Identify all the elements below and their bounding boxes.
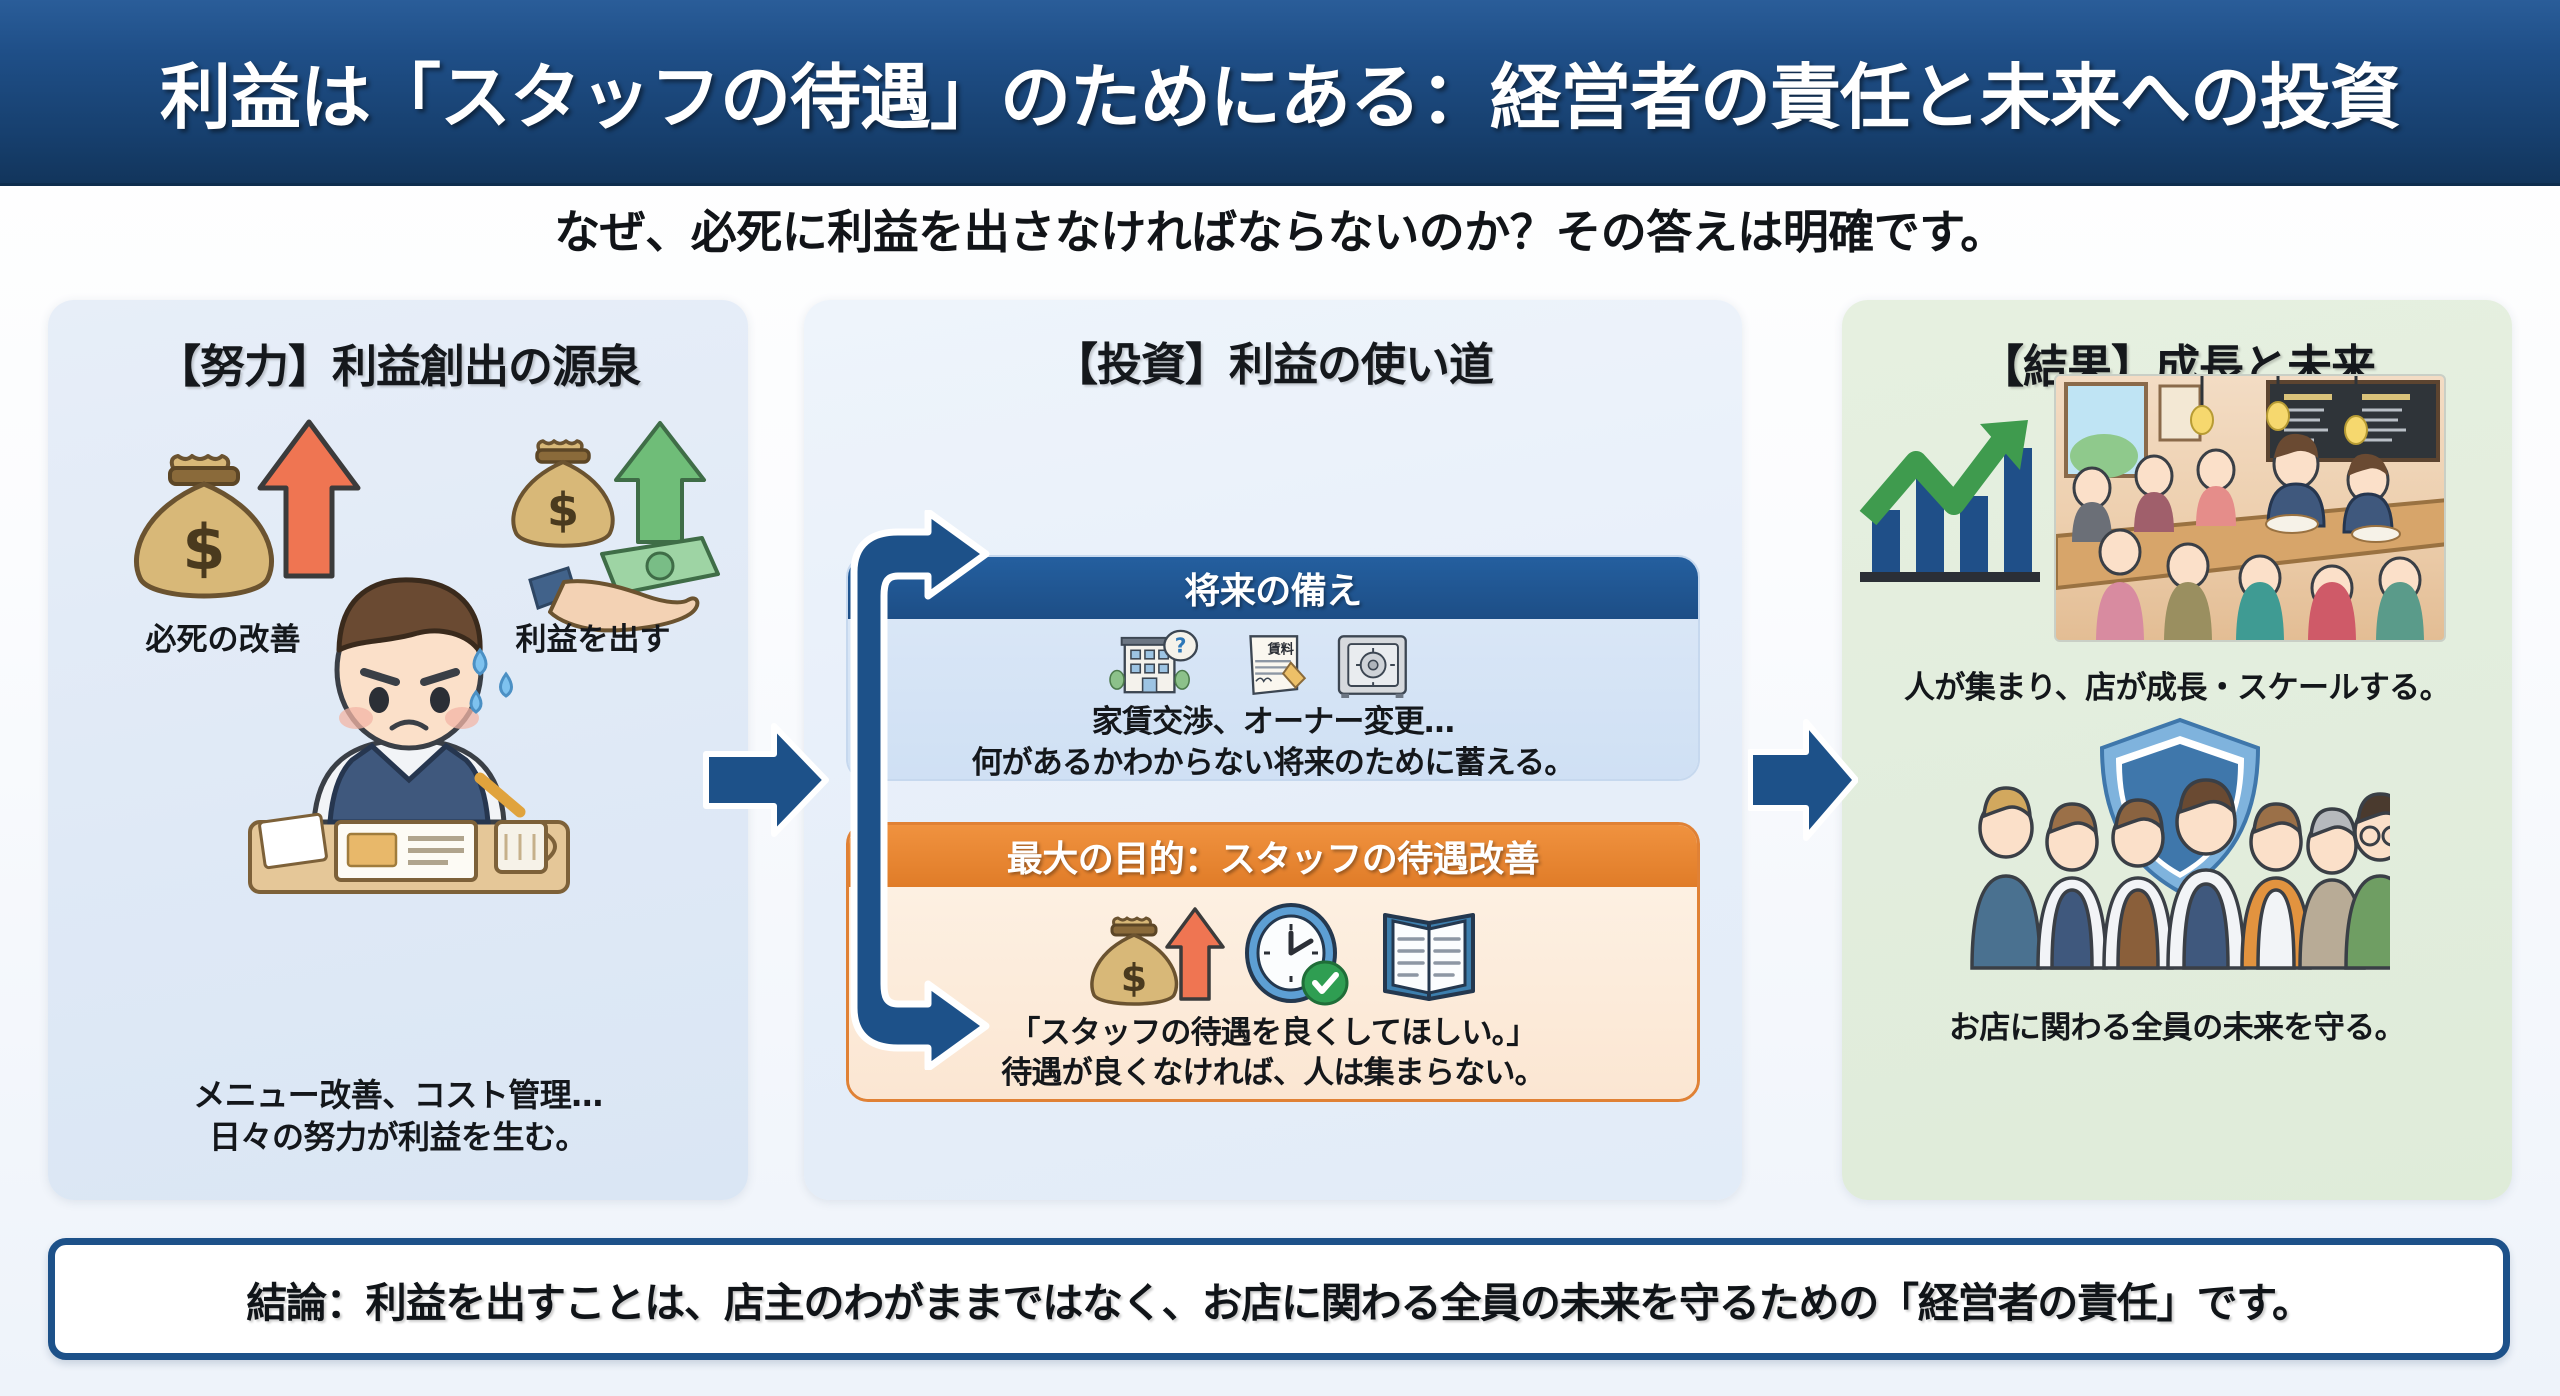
- team-people-illustration: [1970, 710, 2390, 970]
- effort-right-label: 利益を出す: [448, 614, 738, 659]
- future-icons-group: ? 賃料: [1058, 627, 1488, 698]
- panel-invest-title: 【投資】利益の使い道: [804, 328, 1742, 393]
- conclusion-box: 結論：利益を出すことは、店主のわがままではなく、お店に関わる全員の未来を守るため…: [48, 1238, 2510, 1360]
- panels-row: 【努力】利益創出の源泉 $ 必死の改善 $: [0, 300, 2560, 1200]
- svg-text:?: ?: [1175, 634, 1187, 658]
- safe-vault-icon: [1339, 636, 1406, 698]
- growth-bar-chart-icon: [1854, 400, 2044, 600]
- conclusion-text: 結論：利益を出すことは、店主のわがままではなく、お店に関わる全員の未来を守るため…: [246, 1269, 2312, 1329]
- card-future-preparation: 将来の備え: [846, 555, 1700, 781]
- busy-restaurant-illustration: [2054, 374, 2446, 642]
- panel-invest: 【投資】利益の使い道 将来の備え: [804, 300, 1742, 1200]
- money-bag-icon: $: [106, 426, 326, 616]
- result-caption-bottom: お店に関わる全員の未来を守る。: [1842, 1002, 2512, 1047]
- card-future-text-line1: 家賃交渉、オーナー変更…: [971, 702, 1574, 742]
- clock-check-icon: [1247, 905, 1347, 1004]
- result-caption-top: 人が集まり、店が成長・スケールする。: [1842, 662, 2512, 707]
- card-staff-text: 「スタッフの待遇を良くしてほしい。」 待遇が良くなければ、人は集まらない。: [1001, 1013, 1545, 1094]
- svg-text:$: $: [547, 483, 579, 537]
- money-bag-up-arrow-icon: $: [1092, 909, 1223, 1004]
- worried-chef-illustration: [244, 522, 574, 902]
- card-staff-header: 最大の目的：スタッフの待遇改善: [849, 825, 1697, 887]
- card-future-header: 将来の備え: [848, 557, 1698, 619]
- page-subtitle: なぜ、必死に利益を出さなければならないのか？その答えは明確です。: [0, 196, 2560, 262]
- green-up-arrow-icon: [610, 418, 710, 548]
- effort-caption-line1: メニュー改善、コスト管理…: [48, 1074, 748, 1116]
- page-header: 利益は「スタッフの待遇」のためにある：経営者の責任と未来への投資: [0, 0, 2560, 186]
- card-staff-text-line1: 「スタッフの待遇を良くしてほしい。」: [1001, 1013, 1545, 1053]
- open-book-icon: [1385, 915, 1473, 999]
- card-future-text-line2: 何があるかわからない将来のために蓄える。: [971, 743, 1574, 781]
- effort-left-label: 必死の改善: [78, 614, 368, 659]
- svg-text:$: $: [1121, 956, 1147, 1000]
- card-future-text: 家賃交渉、オーナー変更… 何があるかわからない将来のために蓄える。: [971, 702, 1574, 781]
- panel-result: 【結果】成長と未来: [1842, 300, 2512, 1200]
- svg-text:$: $: [182, 511, 225, 584]
- panel-effort: 【努力】利益創出の源泉 $ 必死の改善 $: [48, 300, 748, 1200]
- effort-icon-group: $ 必死の改善 $: [48, 410, 748, 740]
- card-staff-treatment: 最大の目的：スタッフの待遇改善 $: [846, 822, 1700, 1102]
- money-bag-icon: $: [498, 428, 628, 558]
- page-title: 利益は「スタッフの待遇」のためにある：経営者の責任と未来への投資: [160, 41, 2400, 143]
- card-staff-text-line2: 待遇が良くなければ、人は集まらない。: [1001, 1053, 1545, 1093]
- effort-caption: メニュー改善、コスト管理… 日々の努力が利益を生む。: [48, 1074, 748, 1158]
- effort-caption-line2: 日々の努力が利益を生む。: [48, 1116, 748, 1158]
- red-up-arrow-icon: [254, 416, 364, 586]
- rent-contract-icon: 賃料: [1250, 636, 1304, 693]
- shield-icon: [2102, 720, 2258, 892]
- card-staff-body: $: [849, 887, 1697, 1102]
- svg-text:賃料: 賃料: [1267, 640, 1295, 657]
- card-future-body: ? 賃料: [848, 619, 1698, 781]
- staff-icons-group: $: [1063, 899, 1483, 1007]
- infographic-root: 利益は「スタッフの待遇」のためにある：経営者の責任と未来への投資 なぜ、必死に利…: [0, 0, 2560, 1396]
- building-question-icon: ?: [1110, 631, 1197, 692]
- panel-effort-title: 【努力】利益創出の源泉: [48, 330, 748, 395]
